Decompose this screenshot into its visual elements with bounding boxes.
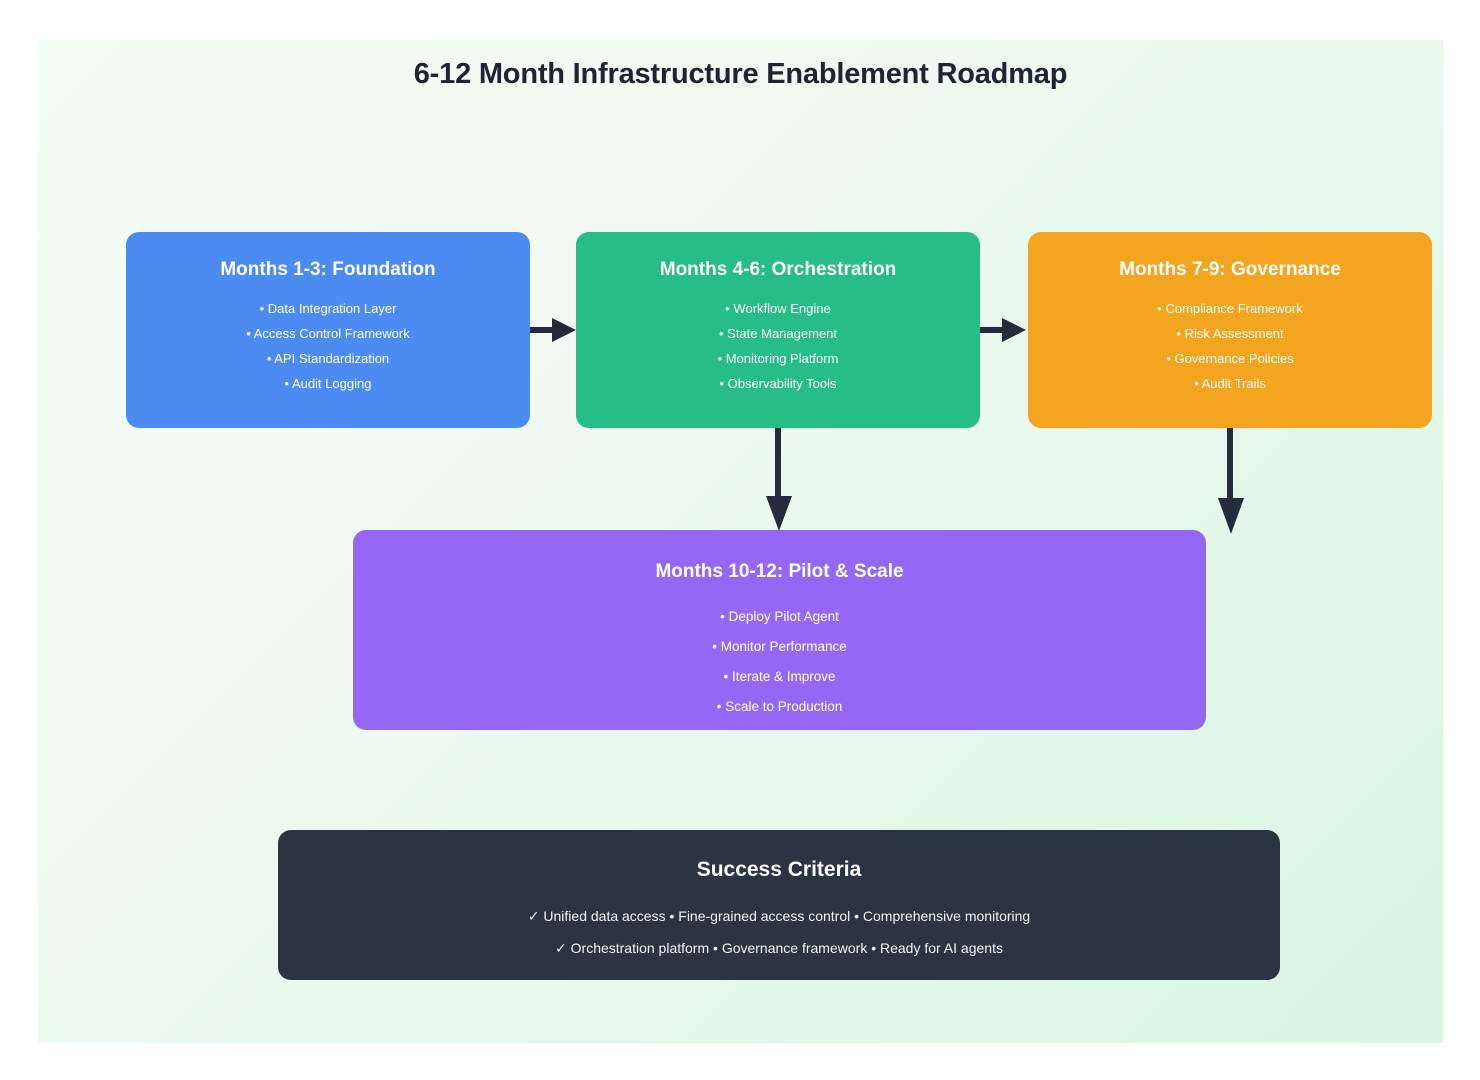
phase-card-foundation[interactable]: Months 1-3: Foundation • Data Integratio… <box>126 232 530 428</box>
phase-item: • API Standardization <box>126 346 530 371</box>
arrow-right-icon-foundation-to-orchestration <box>530 312 578 348</box>
success-criteria-line: ✓ Unified data access • Fine-grained acc… <box>278 900 1280 932</box>
phase-card-pilot-and-scale[interactable]: Months 10-12: Pilot & Scale • Deploy Pil… <box>353 530 1206 730</box>
phase-item: • Governance Policies <box>1028 346 1432 371</box>
phase-item: • Workflow Engine <box>576 296 980 321</box>
phase-item: • Risk Assessment <box>1028 321 1432 346</box>
phase-title-governance: Months 7-9: Governance <box>1028 258 1432 282</box>
arrow-right-icon-orchestration-to-governance <box>980 312 1028 348</box>
phase-card-orchestration[interactable]: Months 4-6: Orchestration • Workflow Eng… <box>576 232 980 428</box>
phase-item: • Data Integration Layer <box>126 296 530 321</box>
phase-item-list-governance: • Compliance Framework • Risk Assessment… <box>1028 296 1432 396</box>
phase-item: • Monitoring Platform <box>576 346 980 371</box>
success-criteria-panel: Success Criteria ✓ Unified data access •… <box>278 830 1280 980</box>
phase-item: • Iterate & Improve <box>353 662 1206 692</box>
phase-card-governance[interactable]: Months 7-9: Governance • Compliance Fram… <box>1028 232 1432 428</box>
phase-item: • Observability Tools <box>576 371 980 396</box>
phase-title-pilot-and-scale: Months 10-12: Pilot & Scale <box>353 560 1206 584</box>
phase-item-list-foundation: • Data Integration Layer • Access Contro… <box>126 296 530 396</box>
arrow-down-icon-governance-to-pilot <box>1216 428 1246 536</box>
roadmap-canvas: 6-12 Month Infrastructure Enablement Roa… <box>38 40 1443 1043</box>
phase-item-list-orchestration: • Workflow Engine • State Management • M… <box>576 296 980 396</box>
phase-item: • State Management <box>576 321 980 346</box>
phase-item: • Deploy Pilot Agent <box>353 602 1206 632</box>
phase-item: • Compliance Framework <box>1028 296 1432 321</box>
page-title: 6-12 Month Infrastructure Enablement Roa… <box>38 58 1443 91</box>
arrow-down-icon-orchestration-to-pilot <box>764 428 794 532</box>
phase-item: • Audit Trails <box>1028 371 1432 396</box>
phase-title-orchestration: Months 4-6: Orchestration <box>576 258 980 282</box>
phase-item: • Monitor Performance <box>353 632 1206 662</box>
phase-item: • Audit Logging <box>126 371 530 396</box>
success-criteria-line: ✓ Orchestration platform • Governance fr… <box>278 932 1280 964</box>
phase-item: • Scale to Production <box>353 692 1206 722</box>
success-criteria-title: Success Criteria <box>278 858 1280 882</box>
phase-title-foundation: Months 1-3: Foundation <box>126 258 530 282</box>
phase-item-list-pilot-and-scale: • Deploy Pilot Agent • Monitor Performan… <box>353 602 1206 722</box>
phase-item: • Access Control Framework <box>126 321 530 346</box>
